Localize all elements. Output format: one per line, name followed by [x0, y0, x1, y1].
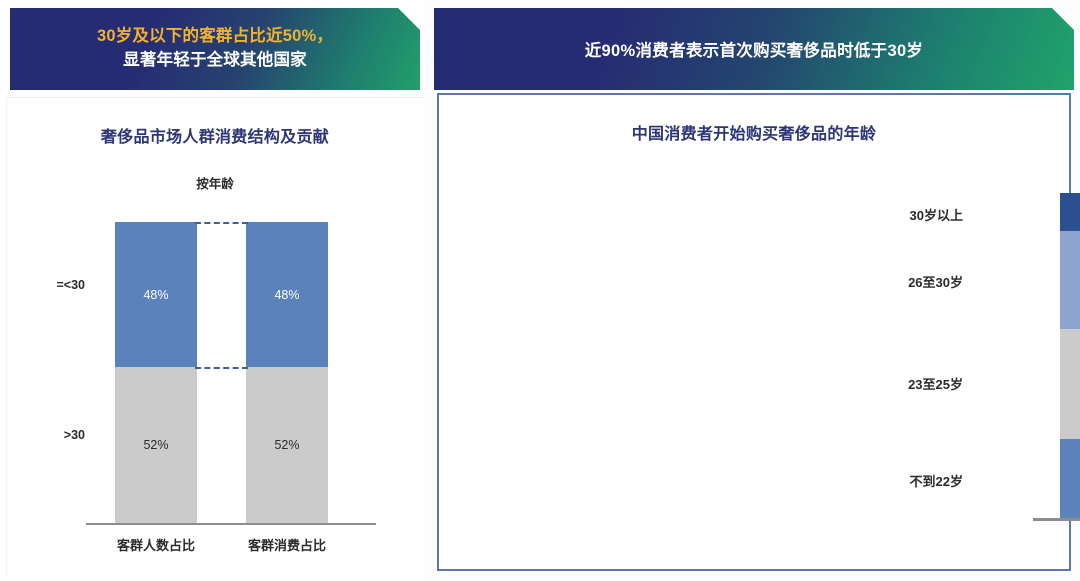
- left-banner-line2: 显著年轻于全球其他国家: [97, 49, 333, 73]
- right-chart-axis-line: [1033, 518, 1080, 521]
- left-bar-spending-segment-under30: 48%: [246, 222, 328, 367]
- right-row-label-26-30: 26至30岁: [843, 272, 963, 291]
- left-row-label-under30: =<30: [25, 278, 85, 292]
- right-row-label-23-25: 23至25岁: [843, 374, 963, 393]
- right-row-label-over30: 30岁以上: [843, 205, 963, 224]
- right-bar-segment-26-30: 30%: [1060, 231, 1080, 329]
- right-stacked-bar[interactable]: 11% 30% 34% 25%: [1060, 193, 1080, 518]
- right-row-label-under22: 不到22岁: [843, 471, 963, 490]
- left-bar-spending[interactable]: 48% 52%: [246, 222, 328, 523]
- left-chart-axis-line: [86, 523, 376, 525]
- left-bar-population-segment-under30: 48%: [115, 222, 197, 367]
- left-banner-line1: 30岁及以下的客群占比近50%，: [97, 27, 333, 45]
- right-bar-segment-over30: 11%: [1060, 193, 1080, 231]
- left-bar-spending-segment-over30: 52%: [246, 367, 328, 523]
- dashed-connector-top: [195, 222, 248, 224]
- left-bar-population[interactable]: 48% 52%: [115, 222, 197, 523]
- left-xlabel-spending: 客群消费占比: [227, 535, 347, 554]
- left-slide-column: 30岁及以下的客群占比近50%， 显著年轻于全球其他国家 奢侈品市场人群消费结构…: [0, 0, 424, 581]
- right-bar-chart: 30岁以上 26至30岁 23至25岁 不到22岁 11% 30% 34% 25…: [430, 0, 1080, 581]
- left-row-label-over30: >30: [25, 428, 85, 442]
- left-banner-text: 30岁及以下的客群占比近50%， 显著年轻于全球其他国家: [97, 25, 333, 73]
- left-xlabel-population: 客群人数占比: [96, 535, 216, 554]
- dashed-connector-middle: [195, 367, 248, 369]
- right-bar-segment-23-25: 34%: [1060, 329, 1080, 439]
- left-chart-panel: 奢侈品市场人群消费结构及贡献 按年龄 =<30 >30 48% 52% 48% …: [6, 97, 423, 576]
- right-bar-segment-under22: 25%: [1060, 439, 1080, 518]
- left-bar-chart: =<30 >30 48% 52% 48% 52% 客群人数占比 客群消费占比: [7, 98, 423, 576]
- left-bar-population-segment-over30: 52%: [115, 367, 197, 523]
- left-banner: 30岁及以下的客群占比近50%， 显著年轻于全球其他国家: [10, 8, 420, 90]
